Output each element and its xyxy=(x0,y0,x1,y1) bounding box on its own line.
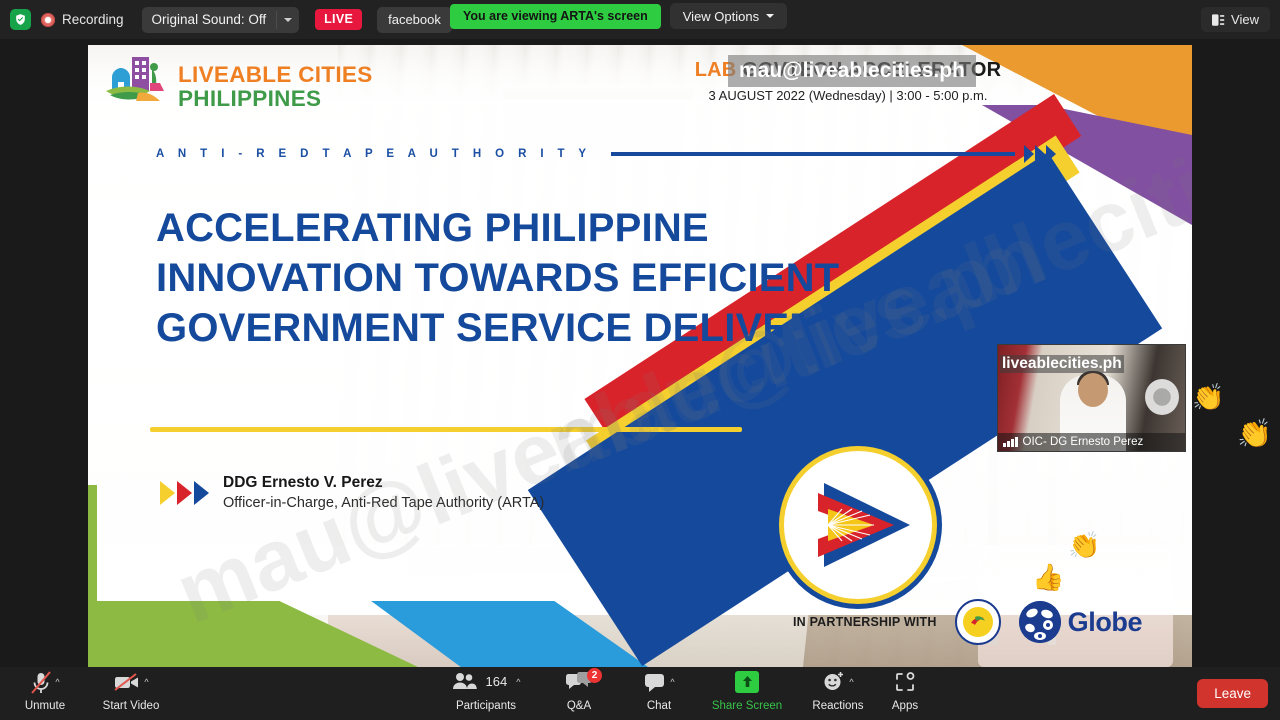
view-label: View xyxy=(1231,12,1259,27)
participants-count: 164 xyxy=(486,671,508,693)
liveable-cities-city-mark-icon xyxy=(106,55,170,107)
video-watermark: liveablecities.ph xyxy=(1000,355,1124,373)
speaker-name: DDG Ernesto V. Perez xyxy=(223,473,544,493)
chevron-up-icon[interactable]: ^ xyxy=(55,671,59,693)
republic-of-the-philippines-seal-icon xyxy=(955,599,1001,645)
liveable-cities-line1: LIVEABLE CITIES xyxy=(178,63,373,87)
camera-muted-icon xyxy=(113,671,141,698)
facebook-stream-badge[interactable]: facebook xyxy=(377,7,452,33)
partnership-block: IN PARTNERSHIP WITH Globe xyxy=(793,599,1142,645)
leave-button[interactable]: Leave xyxy=(1197,679,1268,708)
thumbs-up-icon: 👍 xyxy=(1032,562,1064,593)
top-bar-left-group: Recording Original Sound: Off LIVE faceb… xyxy=(10,0,452,39)
speaker-role: Officer-in-Charge, Anti-Red Tape Authori… xyxy=(223,493,544,513)
top-bar-center-group: You are viewing ARTA's screen View Optio… xyxy=(450,3,787,29)
kicker-chevrons-icon xyxy=(1024,145,1056,163)
title-underline xyxy=(150,427,742,432)
live-badge: LIVE xyxy=(315,9,362,30)
clapping-hands-icon: 👏 xyxy=(1192,382,1224,413)
chevron-up-icon[interactable]: ^ xyxy=(670,671,674,693)
apps-grid-icon xyxy=(894,671,916,698)
arta-triangle-emblem-icon xyxy=(774,441,942,609)
audio-level-bars-icon xyxy=(1003,437,1018,447)
liveable-cities-line2: PHILIPPINES xyxy=(178,87,373,111)
view-options-button[interactable]: View Options xyxy=(670,3,787,29)
background-arta-seal xyxy=(1145,379,1179,415)
recording-label: Recording xyxy=(62,12,124,27)
liveable-cities-logo: LIVEABLE CITIES PHILIPPINES xyxy=(106,55,373,111)
original-sound-label: Original Sound: Off xyxy=(142,7,277,33)
question-answer-icon: 2 xyxy=(565,671,593,698)
globe-wordmark: Globe xyxy=(1068,607,1143,638)
view-options-label: View Options xyxy=(683,9,759,24)
share-screen-label: Share Screen xyxy=(712,700,782,712)
person-head xyxy=(1078,373,1108,407)
top-bar: Recording Original Sound: Off LIVE faceb… xyxy=(0,0,1280,39)
qa-label: Q&A xyxy=(567,700,591,712)
share-screen-up-arrow-icon xyxy=(735,671,759,693)
clapping-hands-icon: 👏 xyxy=(1237,417,1272,450)
meeting-controls-bar: ^ Unmute ^ Start Video 164 ^ Participant… xyxy=(0,667,1280,720)
video-name-bar: OIC- DG Ernesto Perez xyxy=(998,433,1185,451)
security-shield-icon[interactable] xyxy=(10,9,31,30)
start-video-button[interactable]: ^ Start Video xyxy=(88,671,174,712)
globe-telecom-logo-icon: Globe xyxy=(1019,601,1143,643)
event-date: 3 AUGUST 2022 (Wednesday) | 3:00 - 5:00 … xyxy=(608,88,1088,103)
watermark-overlay-strip: mau@liveablecities.ph xyxy=(728,55,976,87)
participant-video-tile[interactable]: liveablecities.ph OIC- DG Ernesto Perez xyxy=(997,344,1186,452)
microphone-muted-icon xyxy=(30,671,52,700)
shared-screen-stage[interactable]: LIVEABLE CITIES PHILIPPINES LAB GOVTECH … xyxy=(0,39,1280,667)
chevron-up-icon[interactable]: ^ xyxy=(849,671,853,693)
smiley-reactions-icon xyxy=(822,671,846,698)
original-sound-control[interactable]: Original Sound: Off xyxy=(142,7,300,33)
chevron-up-icon[interactable]: ^ xyxy=(144,671,148,693)
recording-dot-icon xyxy=(41,13,55,27)
kicker-rule xyxy=(611,152,1015,156)
participants-icon xyxy=(452,671,478,698)
slide-header: LIVEABLE CITIES PHILIPPINES LAB GOVTECH … xyxy=(88,45,1192,109)
slide-title: ACCELERATING PHILIPPINE INNOVATION TOWAR… xyxy=(156,203,876,353)
top-bar-right-group: View xyxy=(1201,7,1270,32)
chat-bubble-icon xyxy=(643,671,667,698)
kicker-label: A N T I - R E D T A P E A U T H O R I T … xyxy=(156,148,591,160)
speaker-block: DDG Ernesto V. Perez Officer-in-Charge, … xyxy=(160,473,544,513)
kicker-line: A N T I - R E D T A P E A U T H O R I T … xyxy=(156,145,1056,163)
chat-label: Chat xyxy=(647,700,671,712)
participants-button[interactable]: 164 ^ Participants xyxy=(438,671,534,712)
view-layout-button[interactable]: View xyxy=(1201,7,1270,32)
unmute-label: Unmute xyxy=(25,700,65,712)
start-video-label: Start Video xyxy=(103,700,160,712)
qa-unread-badge: 2 xyxy=(587,668,602,683)
unmute-button[interactable]: ^ Unmute xyxy=(2,671,88,712)
chevron-down-icon[interactable] xyxy=(277,7,299,33)
apps-label: Apps xyxy=(892,700,918,712)
layout-view-icon xyxy=(1212,14,1225,26)
participants-label: Participants xyxy=(456,700,516,712)
viewing-screen-notice: You are viewing ARTA's screen xyxy=(450,4,661,29)
clapping-hands-icon: 👏 xyxy=(1068,530,1100,561)
share-screen-button[interactable]: Share Screen xyxy=(700,671,794,712)
chevron-down-icon xyxy=(766,14,774,18)
chat-button[interactable]: ^ Chat xyxy=(620,671,698,712)
partnership-label: IN PARTNERSHIP WITH xyxy=(793,615,937,629)
chevron-up-icon[interactable]: ^ xyxy=(516,671,520,693)
reactions-label: Reactions xyxy=(812,700,863,712)
zoom-meeting-window: Recording Original Sound: Off LIVE faceb… xyxy=(0,0,1280,720)
recording-indicator[interactable]: Recording xyxy=(41,12,124,27)
speaker-chevrons-icon xyxy=(160,481,209,505)
participant-name: OIC- DG Ernesto Perez xyxy=(1023,436,1144,448)
qa-button[interactable]: 2 Q&A xyxy=(537,671,621,712)
apps-button[interactable]: Apps xyxy=(869,671,941,712)
